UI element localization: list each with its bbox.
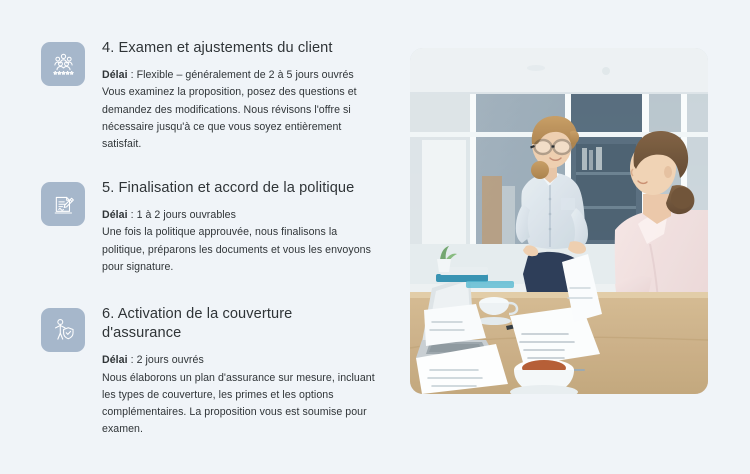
step-description: Une fois la politique approuvée, nous fi… (102, 224, 382, 275)
process-steps-list: 4. Examen et ajustements du client Délai… (41, 38, 391, 438)
step-title: 4. Examen et ajustements du client (102, 39, 391, 58)
person-shield-check-icon (50, 316, 77, 343)
step-description: Nous élaborons un plan d'assurance sur m… (102, 370, 383, 439)
step-delay-label: Délai (102, 69, 128, 81)
step-description: Vous examinez la proposition, posez des … (102, 84, 370, 153)
step-delay-separator: : (128, 354, 137, 366)
step-delay: Délai : 1 à 2 jours ouvrables (102, 207, 391, 224)
step-delay-label: Délai (102, 209, 128, 221)
people-group-stars-icon (50, 51, 77, 78)
step-body: 5. Finalisation et accord de la politiqu… (102, 178, 391, 276)
step-title: 5. Finalisation et accord de la politiqu… (102, 179, 391, 198)
list-item: 4. Examen et ajustements du client Délai… (41, 38, 391, 153)
step-delay-label: Délai (102, 354, 128, 366)
step-delay-value: 1 à 2 jours ouvrables (137, 209, 236, 221)
step-icon-tile (41, 182, 85, 226)
step-delay-value: 2 jours ouvrés (137, 354, 204, 366)
page-root: 4. Examen et ajustements du client Délai… (0, 0, 750, 474)
step-title: 6. Activation de la couverture d'assuran… (102, 305, 317, 344)
list-item: 5. Finalisation et accord de la politiqu… (41, 178, 391, 276)
document-signature-pen-icon (50, 191, 77, 218)
office-meeting-photo-illustration (410, 48, 708, 394)
step-icon-tile (41, 308, 85, 352)
step-delay: Délai : Flexible – généralement de 2 à 5… (102, 67, 391, 84)
step-icon-tile (41, 42, 85, 86)
step-body: 4. Examen et ajustements du client Délai… (102, 38, 391, 153)
step-delay: Délai : 2 jours ouvrés (102, 352, 391, 369)
step-delay-value: Flexible – généralement de 2 à 5 jours o… (137, 69, 354, 81)
step-delay-separator: : (128, 69, 137, 81)
step-body: 6. Activation de la couverture d'assuran… (102, 304, 391, 438)
office-meeting-photo (410, 48, 708, 394)
step-delay-separator: : (128, 209, 137, 221)
list-item: 6. Activation de la couverture d'assuran… (41, 304, 391, 438)
